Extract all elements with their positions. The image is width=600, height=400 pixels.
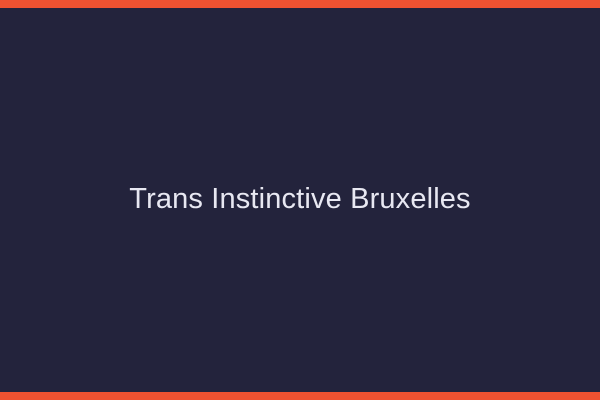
placeholder-body: Trans Instinctive Bruxelles (0, 8, 600, 392)
top-accent-bar (0, 0, 600, 8)
placeholder-title: Trans Instinctive Bruxelles (129, 183, 470, 216)
bottom-accent-bar (0, 392, 600, 400)
placeholder-card: Trans Instinctive Bruxelles (0, 0, 600, 400)
